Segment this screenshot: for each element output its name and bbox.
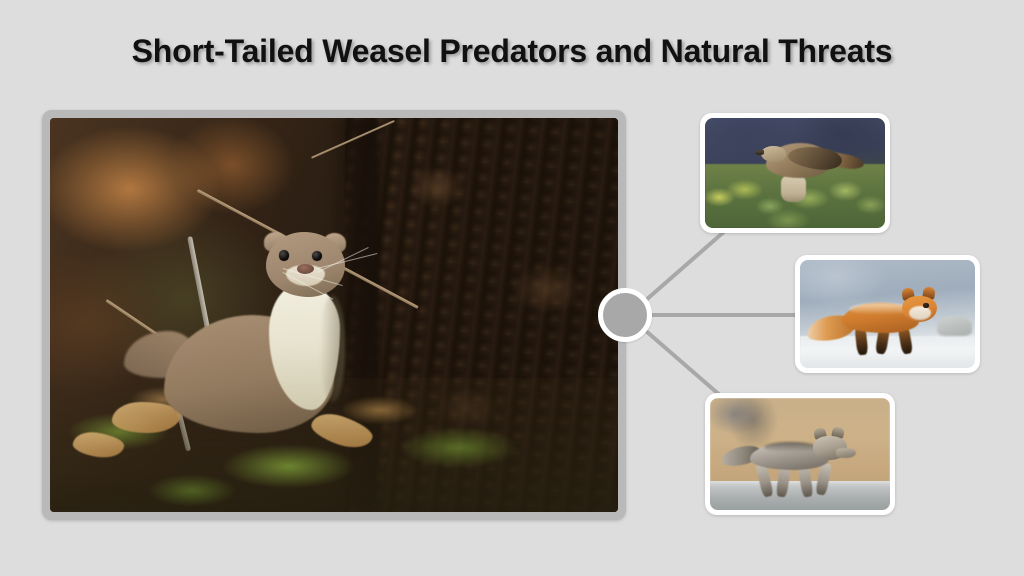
predator-thumbnail-fox[interactable] — [795, 255, 980, 373]
hub-node[interactable] — [598, 288, 652, 342]
coyote-back-marking — [764, 442, 818, 452]
hawk-photo[interactable] — [705, 118, 885, 228]
coyote-photo[interactable] — [710, 398, 890, 510]
predator-thumbnail-coyote[interactable] — [705, 393, 895, 515]
predator-thumbnail-hawk[interactable] — [700, 113, 890, 233]
short-tailed-weasel-photo[interactable] — [50, 118, 618, 512]
hero-image-frame[interactable] — [42, 110, 626, 520]
hawk-head — [761, 146, 786, 163]
hawk-legs — [781, 175, 806, 201]
weasel-eye — [279, 250, 290, 260]
snow-mound — [937, 316, 972, 335]
fox-photo[interactable] — [800, 260, 975, 368]
fox-eye — [923, 303, 928, 307]
weasel-chest-shade — [320, 295, 346, 401]
